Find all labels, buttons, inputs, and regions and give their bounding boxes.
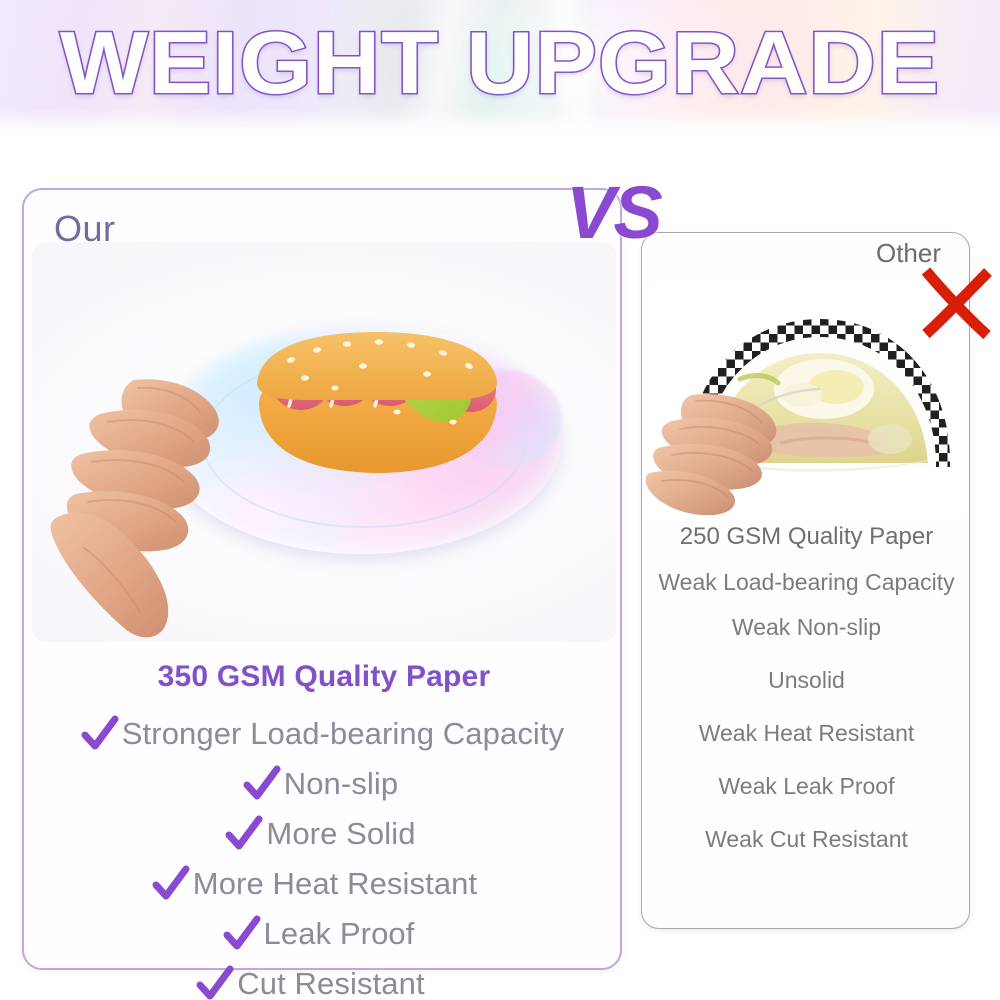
check-icon — [195, 964, 235, 1000]
list-item-label: Cut Resistant — [237, 964, 424, 1000]
list-item-label: More Heat Resistant — [193, 864, 477, 904]
comparison-infographic: WEIGHT UPGRADE Our — [0, 0, 1000, 1000]
list-item-label: Non-slip — [284, 764, 399, 804]
list-item-label: Stronger Load-bearing Capacity — [122, 714, 564, 754]
red-x-icon — [919, 265, 995, 341]
list-item: Weak Non-slip — [656, 614, 957, 641]
list-item: More Heat Resistant — [14, 864, 614, 904]
list-item: Cut Resistant — [10, 964, 610, 1000]
check-icon — [242, 764, 282, 804]
our-panel: Our — [22, 188, 622, 970]
list-item: More Solid — [20, 814, 620, 854]
check-icon — [80, 714, 120, 754]
check-icon — [224, 814, 264, 854]
check-icon — [222, 914, 262, 954]
hand-icon — [42, 362, 292, 642]
list-item: Unsolid — [656, 667, 957, 694]
other-feature-list: Weak Load-bearing Capacity Weak Non-slip… — [656, 569, 957, 879]
our-product-photo — [32, 242, 616, 642]
vs-label: VS — [566, 176, 661, 250]
list-item: Weak Heat Resistant — [656, 720, 957, 747]
our-gsm-label: 350 GSM Quality Paper — [24, 660, 624, 694]
list-item-label: More Solid — [266, 814, 415, 854]
list-item: Non-slip — [20, 764, 620, 804]
list-item-label: Leak Proof — [264, 914, 415, 954]
list-item: Weak Load-bearing Capacity — [656, 569, 957, 596]
list-item: Leak Proof — [18, 914, 618, 954]
other-panel-label: Other — [876, 239, 941, 267]
check-icon — [151, 864, 191, 904]
our-feature-list: Stronger Load-bearing Capacity Non-slip … — [24, 714, 624, 1000]
page-title: WEIGHT UPGRADE — [0, 17, 1000, 109]
list-item: Weak Leak Proof — [656, 773, 957, 800]
list-item: Stronger Load-bearing Capacity — [22, 714, 622, 754]
other-gsm-label: 250 GSM Quality Paper — [642, 523, 971, 551]
hand-icon — [646, 387, 806, 519]
list-item: Weak Cut Resistant — [656, 826, 957, 853]
